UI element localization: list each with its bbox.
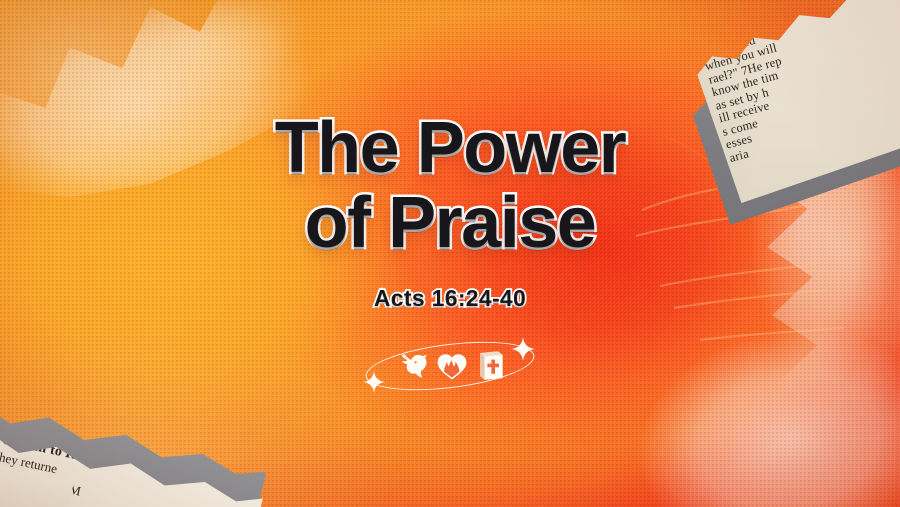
flaming-heart-icon xyxy=(435,351,469,381)
icon-badge xyxy=(357,338,543,394)
title-block: The Power of Praise Acts 16:24-40 xyxy=(0,0,900,507)
scripture-reference: Acts 16:24-40 xyxy=(374,285,526,312)
dove-icon xyxy=(395,351,429,381)
bible-cross-icon xyxy=(475,350,506,382)
badge-icon-row xyxy=(395,350,506,382)
title-line-1: The Power xyxy=(275,113,626,184)
sermon-title-slide: 6 S they asked when you will rael?" 7He … xyxy=(0,0,900,507)
sparkle-left-icon xyxy=(363,371,385,393)
page-title: The Power of Praise xyxy=(275,113,626,258)
title-line-2: of Praise xyxy=(275,188,626,259)
sparkle-right-icon xyxy=(511,337,535,361)
